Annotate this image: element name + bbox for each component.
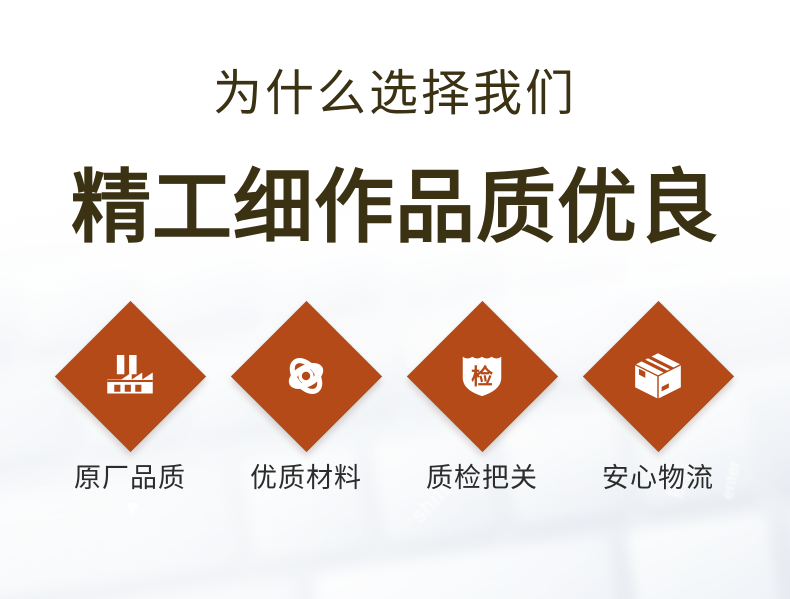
feature-item-original-factory-quality[interactable]: 原厂品质: [42, 288, 218, 518]
why-choose-us-banner: ▼ shift 换行 enter 为什么选择我们 精工细作品质优良: [0, 0, 790, 599]
feature-label: 质检把关: [394, 456, 570, 495]
atom-icon: [274, 344, 338, 408]
feature-list: 原厂品质: [0, 288, 790, 518]
factory-icon: [98, 344, 162, 408]
banner-headline: 精工细作品质优良: [0, 160, 790, 256]
feature-diamond: [218, 288, 394, 464]
package-box-icon: [626, 344, 690, 408]
feature-label: 优质材料: [218, 456, 394, 495]
banner-subtitle: 为什么选择我们: [0, 66, 790, 124]
feature-item-quality-inspection[interactable]: 检 质检把关: [394, 288, 570, 518]
feature-item-reliable-logistics[interactable]: 安心物流: [570, 288, 746, 518]
feature-diamond: [570, 288, 746, 464]
feature-diamond: [42, 288, 218, 464]
feature-label: 安心物流: [570, 456, 746, 495]
banner-content: 为什么选择我们 精工细作品质优良: [0, 0, 790, 599]
feature-diamond: 检: [394, 288, 570, 464]
feature-item-premium-material[interactable]: 优质材料: [218, 288, 394, 518]
shield-check-icon: 检: [450, 344, 514, 408]
feature-label: 原厂品质: [42, 456, 218, 495]
shield-glyph: 检: [471, 364, 493, 389]
